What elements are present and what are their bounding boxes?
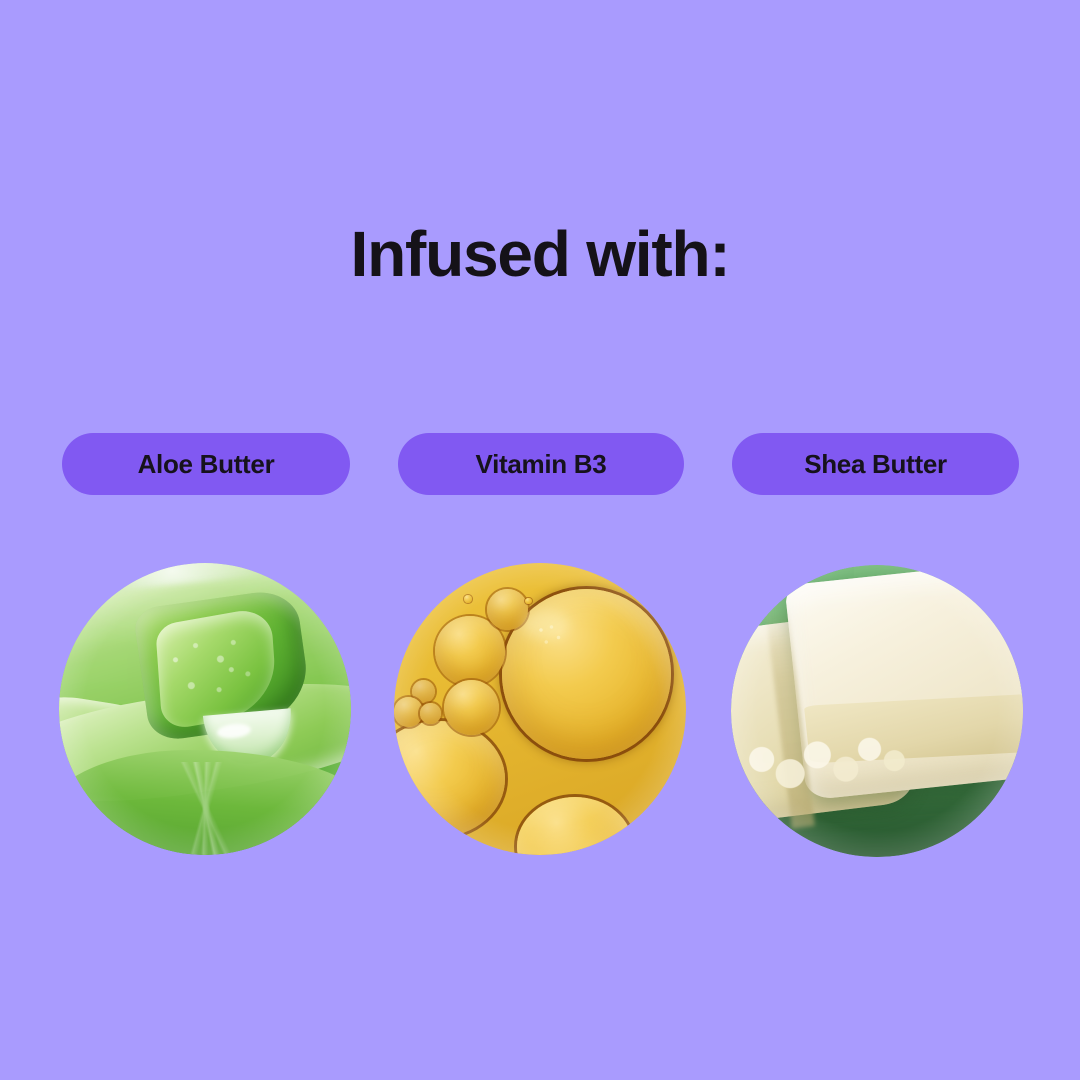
ingredient-pill-row: Aloe Butter Vitamin B3 Shea Butter — [0, 433, 1080, 495]
ingredient-image-row — [0, 563, 1080, 863]
ingredient-pill-label: Aloe Butter — [138, 451, 275, 477]
oil-bubble-dot-1 — [464, 595, 472, 603]
shea-butter-photo — [731, 565, 1023, 857]
ingredient-pill-vitamin-b3[interactable]: Vitamin B3 — [398, 433, 684, 495]
oil-bubble-small-2 — [394, 697, 423, 726]
ingredient-pill-label: Vitamin B3 — [476, 451, 607, 477]
ingredient-image-vitamin-b3 — [394, 563, 686, 855]
oil-bubbles-photo — [394, 563, 686, 855]
ingredient-image-shea-butter — [731, 565, 1023, 857]
infused-with-card: Infused with: Aloe Butter Vitamin B3 She… — [0, 0, 1080, 1080]
ingredient-pill-shea-butter[interactable]: Shea Butter — [732, 433, 1019, 495]
oil-bubble-small-3 — [420, 703, 440, 723]
oil-bubble-left-lower — [444, 680, 499, 735]
page-title: Infused with: — [0, 222, 1080, 286]
ingredient-pill-aloe-butter[interactable]: Aloe Butter — [62, 433, 350, 495]
oil-microbubbles — [534, 621, 569, 650]
aloe-vera-photo — [59, 563, 351, 855]
ingredient-pill-label: Shea Butter — [804, 451, 947, 477]
aloe-leaf-veins — [82, 762, 333, 855]
ingredient-image-aloe-butter — [59, 563, 351, 855]
